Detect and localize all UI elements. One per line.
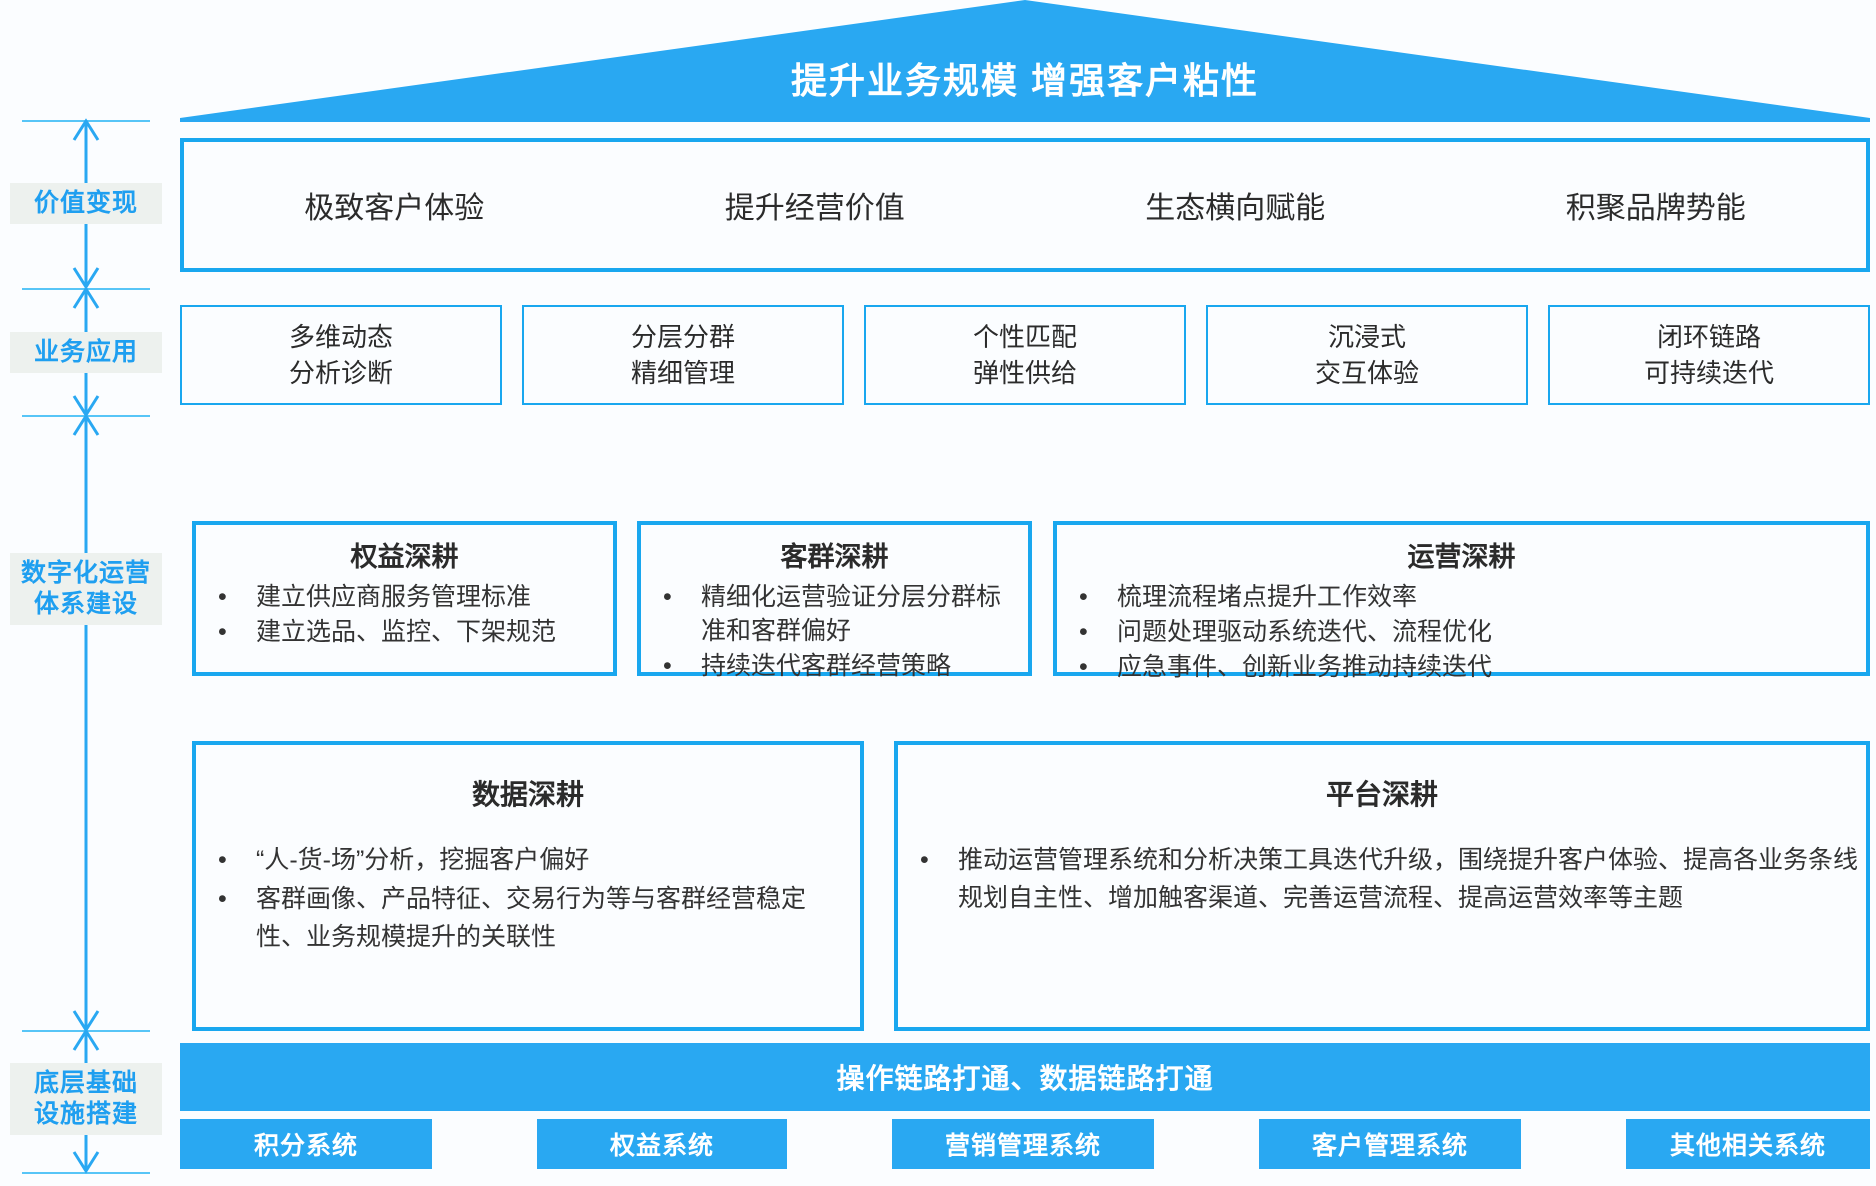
deep-box-rights-title: 权益深耕 [204,535,605,574]
app-box-3[interactable]: 沉浸式 交互体验 [1206,305,1528,405]
business-application-row: 多维动态 分析诊断 分层分群 精细管理 个性匹配 弹性供给 沉浸式 交互体验 闭… [180,305,1870,405]
deep-box-rights-list: 建立供应商服务管理标准 建立选品、监控、下架规范 [204,580,605,649]
app-box-1-line2: 精细管理 [631,355,735,391]
system-row: 积分系统 权益系统 营销管理系统 客户管理系统 其他相关系统 [180,1119,1870,1169]
deep-box-platform[interactable]: 平台深耕 推动运营管理系统和分析决策工具迭代升级，围绕提升客户体验、提高各业务条… [894,741,1870,1031]
list-item: “人-货-场”分析，挖掘客户偏好 [204,841,852,879]
deep-box-operations-list: 梳理流程堵点提升工作效率 问题处理驱动系统迭代、流程优化 应急事件、创新业务推动… [1065,580,1858,684]
double-arrow-icon-digital [68,413,104,1033]
list-item: 建立供应商服务管理标准 [204,580,605,614]
list-item: 梳理流程堵点提升工作效率 [1065,580,1858,614]
stage-label-business-text: 业务应用 [10,337,162,368]
list-item: 精细化运营验证分层分群标准和客群偏好 [649,580,1020,648]
value-item-2: 生态横向赋能 [1025,183,1446,227]
list-item: 应急事件、创新业务推动持续迭代 [1065,650,1858,684]
value-realization-row: 极致客户体验 提升经营价值 生态横向赋能 积聚品牌势能 [180,138,1870,272]
app-box-3-line2: 交互体验 [1315,355,1419,391]
link-through-band: 操作链路打通、数据链路打通 [180,1043,1870,1111]
system-box-marketing[interactable]: 营销管理系统 [892,1119,1154,1169]
stage-label-infrastructure: 底层基础 设施搭建 [10,1063,162,1135]
stage-label-digital-operation: 数字化运营 体系建设 [10,553,162,625]
stage-label-infra-line1: 底层基础 [10,1068,162,1099]
list-item: 客群画像、产品特征、交易行为等与客群经营稳定性、业务规模提升的关联性 [204,880,852,956]
app-box-0[interactable]: 多维动态 分析诊断 [180,305,502,405]
deep-box-data-title: 数据深耕 [204,773,852,813]
app-box-2-line1: 个性匹配 [973,319,1077,355]
value-item-1: 提升经营价值 [605,183,1026,227]
deep-box-operations[interactable]: 运营深耕 梳理流程堵点提升工作效率 问题处理驱动系统迭代、流程优化 应急事件、创… [1053,521,1870,676]
list-item: 建立选品、监控、下架规范 [204,615,605,649]
system-box-other[interactable]: 其他相关系统 [1626,1119,1870,1169]
app-box-4-line1: 闭环链路 [1657,319,1761,355]
deep-box-customer-group-title: 客群深耕 [649,535,1020,574]
deep-box-platform-list: 推动运营管理系统和分析决策工具迭代升级，围绕提升客户体验、提高各业务条线规划自主… [906,841,1858,917]
stage-label-business-application: 业务应用 [10,332,162,373]
deep-box-customer-group[interactable]: 客群深耕 精细化运营验证分层分群标准和客群偏好 持续迭代客群经营策略 [637,521,1032,676]
value-item-0: 极致客户体验 [184,183,605,227]
app-box-1[interactable]: 分层分群 精细管理 [522,305,844,405]
app-box-0-line1: 多维动态 [289,319,393,355]
app-box-4-line2: 可持续迭代 [1644,355,1774,391]
stage-label-value-text: 价值变现 [10,188,162,219]
value-item-3: 积聚品牌势能 [1446,183,1867,227]
stage-label-value-realization: 价值变现 [10,183,162,224]
deep-box-data[interactable]: 数据深耕 “人-货-场”分析，挖掘客户偏好 客群画像、产品特征、交易行为等与客群… [192,741,864,1031]
list-item: 问题处理驱动系统迭代、流程优化 [1065,615,1858,649]
system-box-customer[interactable]: 客户管理系统 [1259,1119,1521,1169]
deep-box-rights[interactable]: 权益深耕 建立供应商服务管理标准 建立选品、监控、下架规范 [192,521,617,676]
app-box-4[interactable]: 闭环链路 可持续迭代 [1548,305,1870,405]
roof-banner: 提升业务规模 增强客户粘性 [180,0,1870,122]
deep-box-data-list: “人-货-场”分析，挖掘客户偏好 客群画像、产品特征、交易行为等与客群经营稳定性… [204,841,852,956]
system-box-rights[interactable]: 权益系统 [537,1119,787,1169]
deep-box-customer-group-list: 精细化运营验证分层分群标准和客群偏好 持续迭代客群经营策略 [649,580,1020,683]
list-item: 推动运营管理系统和分析决策工具迭代升级，围绕提升客户体验、提高各业务条线规划自主… [906,841,1858,917]
system-box-points[interactable]: 积分系统 [180,1119,432,1169]
app-box-1-line1: 分层分群 [631,319,735,355]
list-item: 持续迭代客群经营策略 [649,649,1020,683]
app-box-3-line1: 沉浸式 [1328,319,1406,355]
deep-box-operations-title: 运营深耕 [1065,535,1858,574]
app-box-2[interactable]: 个性匹配 弹性供给 [864,305,1186,405]
stage-rail: 价值变现 业务应用 数字化运营 体系建设 底层基础 设施搭建 [0,0,172,1186]
stage-label-infra-line2: 设施搭建 [10,1099,162,1130]
stage-label-digital-line1: 数字化运营 [10,558,162,589]
stage-label-digital-line2: 体系建设 [10,589,162,620]
app-box-2-line2: 弹性供给 [973,355,1077,391]
app-box-0-line2: 分析诊断 [289,355,393,391]
deep-box-platform-title: 平台深耕 [906,773,1858,813]
